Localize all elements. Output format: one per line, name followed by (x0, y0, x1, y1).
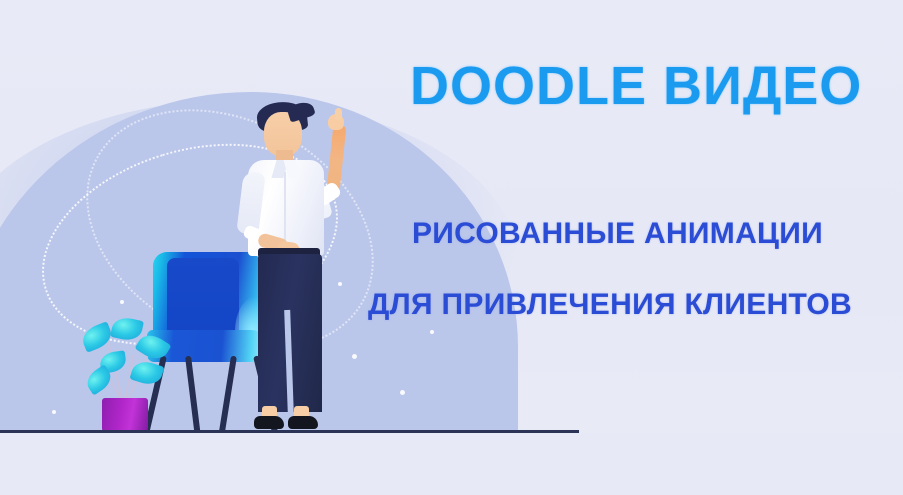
chair-cushion (167, 258, 239, 340)
doodle-video-banner: DOODLE ВИДЕО РИСОВАННЫЕ АНИМАЦИИ ДЛЯ ПРИ… (0, 0, 903, 495)
person-illustration (232, 100, 392, 435)
banner-subtitle-line-1: РИСОВАННЫЕ АНИМАЦИИ (412, 217, 823, 251)
sparkle-dot (52, 410, 56, 414)
floor-area (0, 433, 903, 495)
potted-plant (78, 310, 174, 435)
banner-subtitle-line-2: ДЛЯ ПРИВЛЕЧЕНИЯ КЛИЕНТОВ (368, 288, 852, 322)
shoe-right (288, 416, 318, 429)
sparkle-dot (400, 390, 405, 395)
sparkle-dot (120, 300, 124, 304)
plant-leaf (110, 315, 144, 343)
plant-leaf (134, 330, 171, 365)
sparkle-dot (430, 330, 434, 334)
banner-title: DOODLE ВИДЕО (410, 58, 900, 115)
shoe-left (254, 416, 284, 429)
pointing-finger (335, 108, 342, 120)
floor-line (0, 430, 579, 433)
